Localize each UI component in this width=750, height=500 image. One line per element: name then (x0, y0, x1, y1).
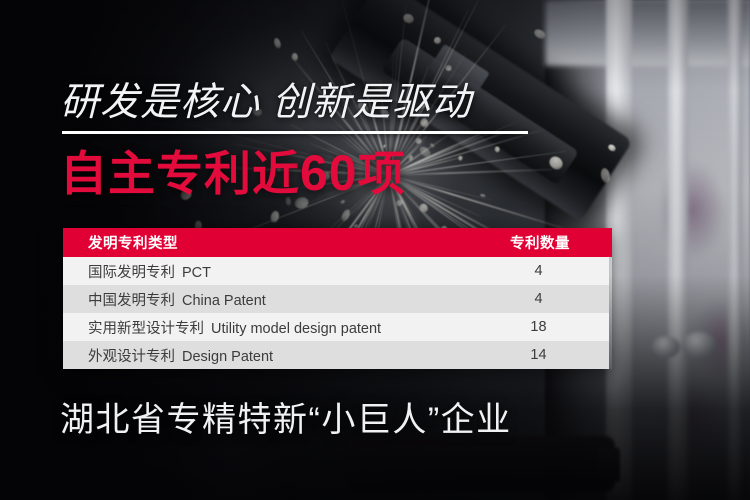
subtitle-patent-count: 自主专利近60项 (60, 145, 406, 202)
cell-patent-type-zh: 国际发明专利 (88, 265, 175, 281)
cell-patent-type-en: Utility model design patent (211, 321, 381, 337)
patent-poster: 研发是核心 创新是驱动 自主专利近60项 发明专利类型 专利数量 国际发明专利P… (0, 0, 750, 500)
table-header-row: 发明专利类型 专利数量 (63, 228, 612, 257)
table-row: 实用新型设计专利Utility model design patent18 (63, 313, 609, 341)
cell-patent-type-zh: 中国发明专利 (88, 293, 175, 309)
footer-tagline: 湖北省专精特新“小巨人”企业 (60, 398, 512, 442)
table-header-count: 专利数量 (474, 232, 612, 253)
cell-patent-type: 国际发明专利PCT (63, 261, 474, 282)
cell-patent-type-en: Design Patent (182, 349, 273, 365)
table-row: 国际发明专利PCT4 (63, 257, 609, 285)
subtitle-suffix: 项 (358, 147, 406, 200)
subtitle-prefix: 自主专利近 (60, 147, 300, 200)
table-row: 中国发明专利China Patent4 (63, 285, 609, 313)
table-header-type: 发明专利类型 (63, 232, 474, 253)
table-row: 外观设计专利Design Patent14 (63, 341, 609, 369)
subtitle-number: 60 (300, 145, 358, 201)
cell-patent-type-en: PCT (182, 265, 211, 281)
cell-patent-count: 18 (474, 319, 609, 335)
cell-patent-count: 4 (474, 263, 609, 279)
table-body: 国际发明专利PCT4中国发明专利China Patent4实用新型设计专利Uti… (63, 257, 609, 369)
cell-patent-type: 外观设计专利Design Patent (63, 345, 474, 366)
cell-patent-count: 14 (474, 347, 609, 363)
patent-table: 发明专利类型 专利数量 国际发明专利PCT4中国发明专利China Patent… (63, 228, 612, 369)
cell-patent-type: 中国发明专利China Patent (63, 289, 474, 310)
cell-patent-count: 4 (474, 291, 609, 307)
cell-patent-type-zh: 外观设计专利 (88, 349, 175, 365)
title-divider-rule (62, 131, 528, 134)
cell-patent-type-zh: 实用新型设计专利 (88, 321, 204, 337)
page-title: 研发是核心 创新是驱动 (60, 80, 472, 126)
poster-content: 研发是核心 创新是驱动 自主专利近60项 发明专利类型 专利数量 国际发明专利P… (0, 0, 750, 500)
cell-patent-type-en: China Patent (182, 293, 266, 309)
cell-patent-type: 实用新型设计专利Utility model design patent (63, 317, 474, 338)
